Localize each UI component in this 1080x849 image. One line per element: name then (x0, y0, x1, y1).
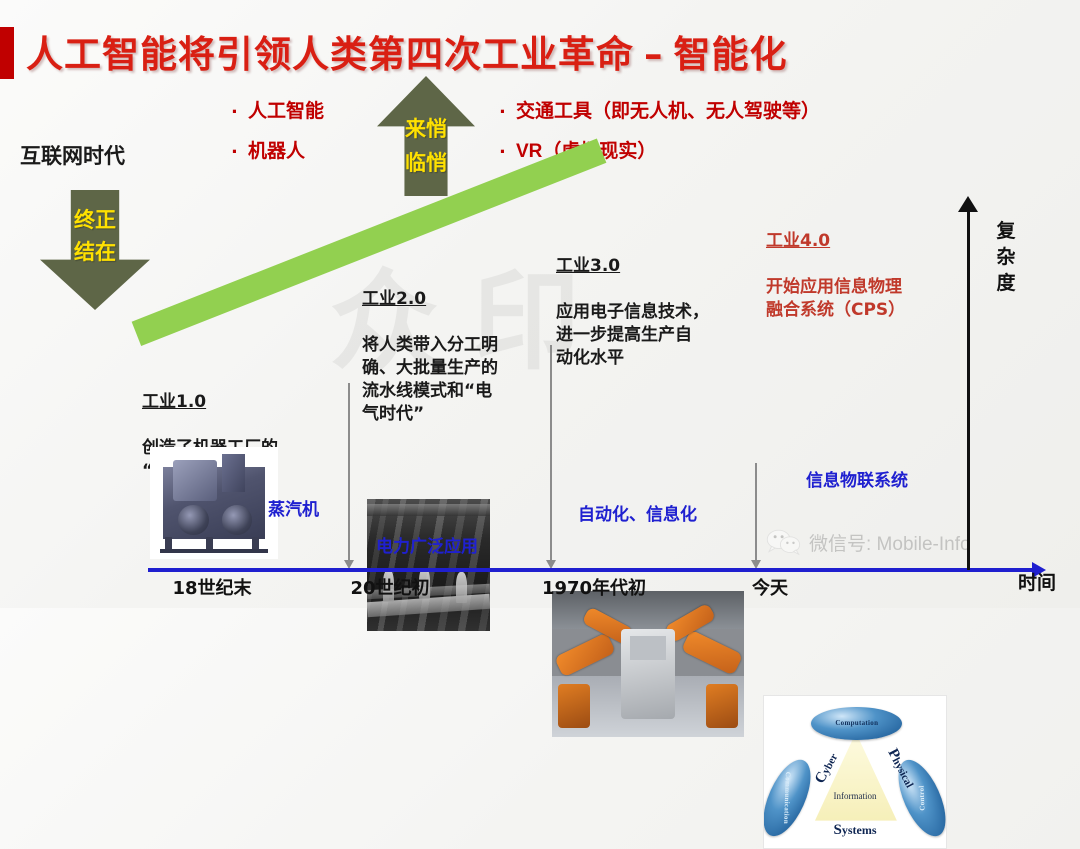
cps-computation-label: Computation (835, 719, 878, 727)
tick-label-3: 1970年代初 (542, 574, 646, 600)
cps-systems-cap: S (833, 822, 841, 838)
era-3-body: 应用电子信息技术， 进一步提高生产自 动化水平 (556, 301, 709, 370)
factory-photo (367, 499, 490, 631)
complexity-axis-label: 复 杂 度 (995, 218, 1017, 296)
cps-diagram-photo: Computation Communication Control Cyber … (763, 695, 947, 849)
bullet-marker-icon: · (490, 132, 516, 172)
era-2-heading: 工业2.0 (362, 288, 498, 311)
down-arrow-label-line1: 终正 (40, 204, 150, 236)
down-arrow-label: 终正 结在 (40, 204, 150, 268)
drop-arrow-3 (550, 345, 552, 561)
list-item: · 人工智能 (222, 92, 324, 132)
bullet-marker-icon: · (490, 92, 516, 132)
internet-era-label: 互联网时代 (20, 140, 125, 170)
drop-arrow-4 (755, 463, 757, 561)
list-item: · 机器人 (222, 132, 324, 172)
era-2-body: 将人类带入分工明 确、大批量生产的 流水线模式和“电 气时代” (362, 334, 498, 426)
up-arrow-label-line1: 来悄 (377, 112, 475, 146)
down-arrow-shape: 终正 结在 (40, 190, 150, 310)
era-4-text: 工业4.0 开始应用信息物理 融合系统（CPS） (766, 207, 905, 345)
era-3-heading: 工业3.0 (556, 255, 709, 278)
tick-label-1: 18世纪末 (172, 574, 251, 600)
page-title-dash: – (634, 33, 674, 76)
era-2-text: 工业2.0 将人类带入分工明 确、大批量生产的 流水线模式和“电 气时代” (362, 265, 498, 449)
up-arrow-shape: 来悄 临悄 (377, 76, 475, 196)
bullet-marker-icon: · (222, 132, 248, 172)
wechat-icon (765, 528, 801, 556)
page-title-suffix: 智能化 (674, 33, 788, 76)
wechat-watermark: 微信号: Mobile-Info (765, 528, 971, 556)
complexity-axis-arrowhead-icon (958, 196, 978, 212)
time-axis-line (148, 568, 1038, 572)
wechat-id-text: 微信号: Mobile-Info (809, 529, 971, 556)
bullet-list-left: · 人工智能 · 机器人 (222, 92, 324, 172)
era-2-caption: 电力广泛应用 (376, 532, 478, 557)
era-3-caption: 自动化、信息化 (578, 500, 697, 525)
era-1-caption: 蒸汽机 (268, 495, 319, 520)
era-4-heading: 工业4.0 (766, 230, 905, 253)
up-arrow-label: 来悄 临悄 (377, 112, 475, 180)
page-title: 人工智能将引领人类第四次工业革命–智能化 (26, 24, 788, 78)
page-title-main: 人工智能将引领人类第四次工业革命 (26, 33, 634, 76)
cps-control-label: Control (918, 785, 927, 811)
era-1-heading: 工业1.0 (142, 391, 278, 414)
bullet-label: 机器人 (248, 132, 305, 172)
cps-communication-ellipse: Communication (763, 753, 821, 843)
cps-information-label: Information (834, 791, 877, 801)
time-axis-label: 时间 (1018, 568, 1056, 595)
slide-canvas: 众印 微信号: Mobile-Info 人工智能将引领人类第四次工业革命–智能化… (0, 0, 1080, 608)
cps-systems-rest: ystems (842, 823, 877, 837)
cps-communication-label: Communication (783, 772, 793, 824)
era-3-text: 工业3.0 应用电子信息技术， 进一步提高生产自 动化水平 (556, 232, 709, 393)
title-accent-bar (0, 27, 14, 79)
era-4-body: 开始应用信息物理 融合系统（CPS） (766, 276, 905, 322)
cps-systems-word: Systems (833, 822, 876, 839)
bullet-label: 人工智能 (248, 92, 324, 132)
robot-arms-photo (552, 591, 744, 737)
drop-arrow-2 (348, 383, 350, 561)
down-arrow-label-line2: 结在 (40, 236, 150, 268)
steam-engine-photo (150, 447, 278, 559)
up-arrow-label-line2: 临悄 (377, 146, 475, 180)
cps-computation-ellipse: Computation (811, 707, 902, 740)
complexity-axis-line (967, 203, 970, 570)
list-item: · 交通工具（即无人机、无人驾驶等） (490, 92, 820, 132)
bullet-marker-icon: · (222, 92, 248, 132)
era-4-caption: 信息物联系统 (806, 466, 908, 491)
tick-label-2: 20世纪初 (350, 574, 429, 600)
tick-label-4: 今天 (752, 574, 788, 600)
bullet-label: 交通工具（即无人机、无人驾驶等） (516, 92, 820, 132)
